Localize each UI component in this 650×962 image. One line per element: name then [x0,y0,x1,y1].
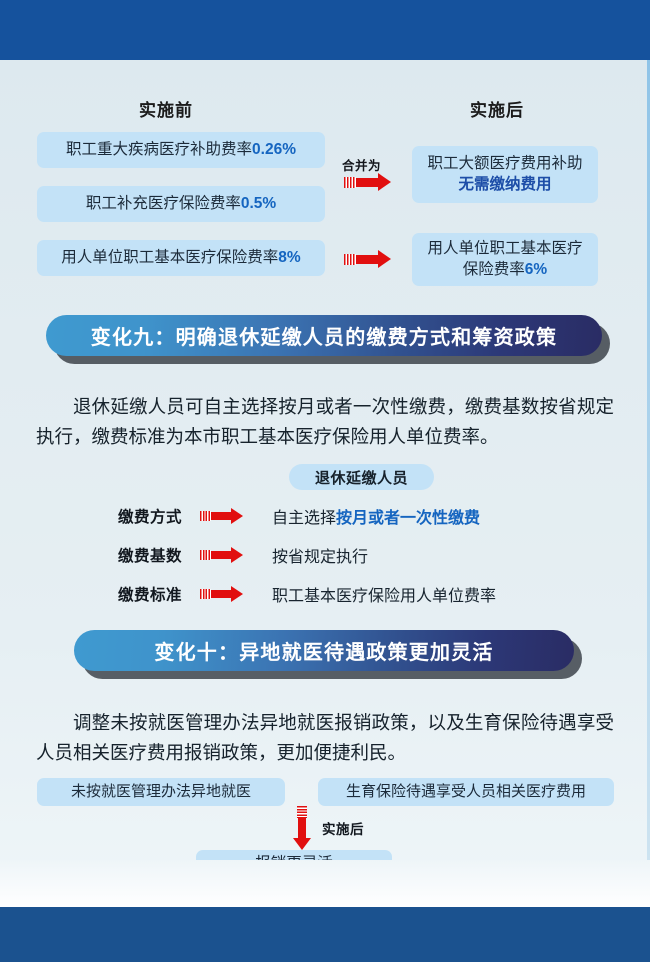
retiree-pill-label: 退休延缴人员 [289,464,434,490]
right-arrow-icon [200,547,258,563]
row-value-prefix: 按省规定执行 [272,549,368,566]
heading-after: 实施后 [470,96,524,121]
row-value: 按省规定执行 [272,543,368,567]
before-item-1-value: 0.26% [252,141,296,158]
row-value-prefix: 自主选择 [272,510,336,527]
after-item-2: 用人单位职工基本医疗 保险费率6% [412,233,598,286]
right-arrow-icon [344,252,391,266]
section-nine-paragraph: 退休延缴人员可自主选择按月或者一次性缴费，缴费基数按省规定执行，缴费标准为本市职… [36,392,614,452]
arrow-ribs [344,254,356,265]
heading-before: 实施前 [139,96,193,121]
after-item-2-line1: 用人单位职工基本医疗 [427,239,582,259]
section-ten-banner: 变化十：异地就医待遇政策更加灵活 [74,630,574,671]
arrow-head [231,586,243,602]
arrow-shaft [356,255,378,264]
arrow-shaft [211,551,231,559]
row-label: 缴费方式 [118,505,196,527]
row-value-prefix: 职工基本医疗保险用人单位费率 [272,588,496,605]
arrow-shaft [211,590,231,598]
panel-bottom-fade [0,860,650,907]
row-label: 缴费标准 [118,583,196,605]
row-value-highlight: 按月或者一次性缴费 [336,510,480,527]
arrow-head [378,173,391,191]
arrow-head [231,547,243,563]
before-item-3-value: 8% [278,249,300,266]
before-item-1-text: 职工重大疾病医疗补助费率 [66,141,252,158]
table-row: 缴费基数 按省规定执行 [118,542,368,568]
row-value: 自主选择按月或者一次性缴费 [272,504,480,528]
right-arrow-icon [344,175,391,189]
arrow-head [293,838,311,850]
arrow-ribs [200,550,211,560]
before-item-2-text: 职工补充医疗保险费率 [86,195,241,212]
right-arrow-icon [200,586,258,602]
flow-after-label: 实施后 [322,818,364,838]
arrow-head [378,250,391,268]
before-item-3: 用人单位职工基本医疗保险费率8% [37,240,325,276]
arrow-head [231,508,243,524]
before-item-3-text: 用人单位职工基本医疗保险费率 [61,249,278,266]
arrow-ribs [297,806,307,818]
row-value: 职工基本医疗保险用人单位费率 [272,582,496,606]
merge-label: 合并为 [342,155,381,174]
down-arrow-icon [293,806,311,850]
table-row: 缴费方式 自主选择按月或者一次性缴费 [118,503,480,529]
arrow-shaft [356,178,378,187]
arrow-ribs [200,589,211,599]
section-nine-banner-title: 变化九：明确退休延缴人员的缴费方式和筹资政策 [46,315,602,356]
after-item-1: 职工大额医疗费用补助 无需缴纳费用 [412,146,598,203]
before-item-2-value: 0.5% [241,195,276,212]
right-arrow-icon [200,508,258,524]
before-item-1: 职工重大疾病医疗补助费率0.26% [37,132,325,168]
arrow-shaft [298,818,306,838]
bottom-blue-band [0,907,650,962]
before-item-2: 职工补充医疗保险费率0.5% [37,186,325,222]
after-item-1-line1: 职工大额医疗费用补助 [427,154,582,174]
arrow-ribs [200,511,211,521]
after-item-2-value: 6% [525,261,547,278]
section-ten-paragraph: 调整未按就医管理办法异地就医报销政策，以及生育保险待遇享受人员相关医疗费用报销政… [36,708,614,768]
table-row: 缴费标准 职工基本医疗保险用人单位费率 [118,581,496,607]
flow-input-right: 生育保险待遇享受人员相关医疗费用 [318,778,614,806]
top-blue-band [0,0,650,60]
after-item-2-line2-prefix: 保险费率 [463,261,525,278]
infographic-page: 实施前 实施后 职工重大疾病医疗补助费率0.26% 职工补充医疗保险费率0.5%… [0,0,650,962]
after-item-1-line2: 无需缴纳费用 [458,175,551,195]
flow-input-left: 未按就医管理办法异地就医 [37,778,285,806]
arrow-ribs [344,177,356,188]
section-ten-banner-title: 变化十：异地就医待遇政策更加灵活 [74,630,574,671]
section-nine-banner: 变化九：明确退休延缴人员的缴费方式和筹资政策 [46,315,602,356]
row-label: 缴费基数 [118,544,196,566]
arrow-shaft [211,512,231,520]
